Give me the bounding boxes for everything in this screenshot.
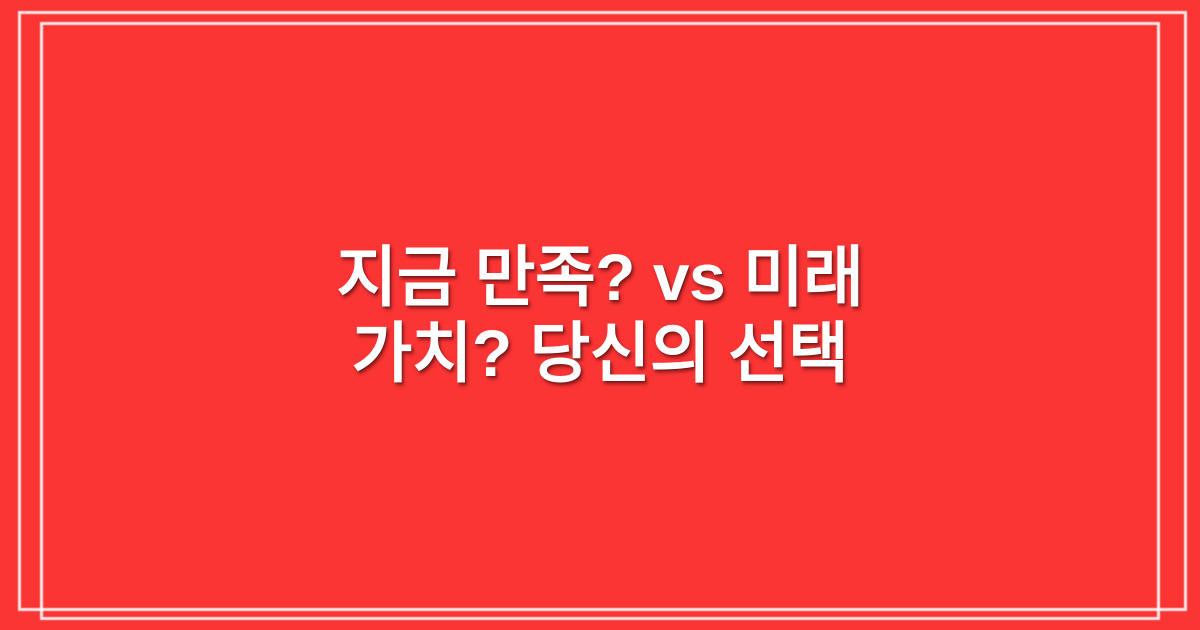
page-title: 지금 만족? vs 미래 가치? 당신의 선택	[280, 239, 920, 391]
thumbnail-card: 지금 만족? vs 미래 가치? 당신의 선택	[0, 0, 1200, 630]
headline-container: 지금 만족? vs 미래 가치? 당신의 선택	[0, 0, 1200, 630]
